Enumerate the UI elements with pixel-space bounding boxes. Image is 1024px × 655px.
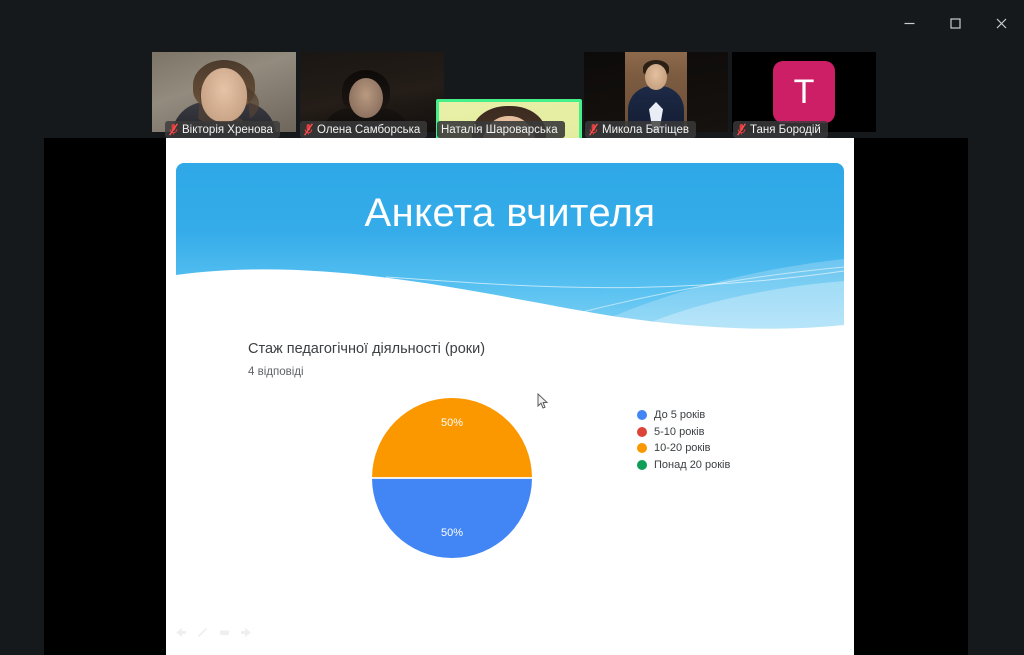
video-feed [152, 52, 296, 132]
legend-color-swatch [637, 427, 647, 437]
legend-color-swatch [637, 410, 647, 420]
mic-muted-icon [304, 123, 313, 136]
slide-menu-icon[interactable] [218, 626, 231, 644]
video-feed: T [732, 52, 876, 132]
participant-name-badge: Наталія Шароварська [437, 121, 565, 138]
legend-item: 10-20 років [637, 440, 730, 457]
slide-banner: Анкета вчителя [176, 163, 844, 333]
chart-legend: До 5 років 5-10 років 10-20 років Понад … [637, 407, 730, 473]
previous-slide-icon[interactable] [174, 626, 187, 644]
pie-slice-divider [372, 477, 532, 479]
participant-name-badge: Микола Батіщев [585, 121, 696, 138]
legend-item: До 5 років [637, 407, 730, 424]
participant-tile[interactable] [152, 52, 296, 132]
video-feed [300, 52, 444, 132]
minimize-button[interactable] [886, 0, 932, 46]
window-titlebar [0, 0, 1024, 46]
pie-slice-label: 50% [372, 527, 532, 539]
participant-name: Наталія Шароварська [441, 124, 558, 136]
participant-name: Таня Бородій [750, 124, 821, 136]
chart-question-title: Стаж педагогічної діяльності (роки) [248, 341, 485, 357]
legend-item: Понад 20 років [637, 457, 730, 474]
maximize-icon [949, 17, 962, 30]
mouse-cursor [537, 393, 549, 411]
participant-tile[interactable]: T [732, 52, 876, 132]
close-button[interactable] [978, 0, 1024, 46]
legend-color-swatch [637, 443, 647, 453]
participant-name: Вікторія Хренова [182, 124, 273, 136]
mic-muted-icon [737, 123, 746, 136]
participant-name: Микола Батіщев [602, 124, 689, 136]
legend-label: 10-20 років [654, 442, 711, 454]
legend-label: До 5 років [654, 409, 705, 421]
pen-tool-icon[interactable] [196, 626, 209, 644]
banner-wave-decoration [176, 241, 844, 333]
next-slide-icon[interactable] [240, 626, 253, 644]
slide-title: Анкета вчителя [176, 191, 844, 236]
video-feed [584, 52, 728, 132]
legend-item: 5-10 років [637, 424, 730, 441]
mic-muted-icon [169, 123, 178, 136]
legend-label: 5-10 років [654, 426, 704, 438]
avatar-letter: T [794, 75, 815, 109]
close-icon [995, 17, 1008, 30]
maximize-button[interactable] [932, 0, 978, 46]
pie-chart-graphic: 50% 50% [372, 398, 532, 558]
chart-response-count: 4 відповіді [248, 366, 304, 378]
presentation-slide[interactable]: Анкета вчителя Стаж педагогічної діяльно… [166, 138, 854, 655]
legend-color-swatch [637, 460, 647, 470]
legend-label: Понад 20 років [654, 459, 730, 471]
participant-name-badge: Таня Бородій [733, 121, 828, 138]
participant-name-badge: Вікторія Хренова [165, 121, 280, 138]
minimize-icon [903, 17, 916, 30]
participant-name: Олена Самборська [317, 124, 420, 136]
pie-slice-label: 50% [372, 417, 532, 429]
participant-tile[interactable] [300, 52, 444, 132]
presentation-controls[interactable] [174, 626, 253, 644]
avatar: T [773, 61, 835, 123]
participant-name-badge: Олена Самборська [300, 121, 427, 138]
mic-muted-icon [589, 123, 598, 136]
participant-tile[interactable] [584, 52, 728, 132]
pie-chart: 50% 50% [372, 398, 532, 558]
